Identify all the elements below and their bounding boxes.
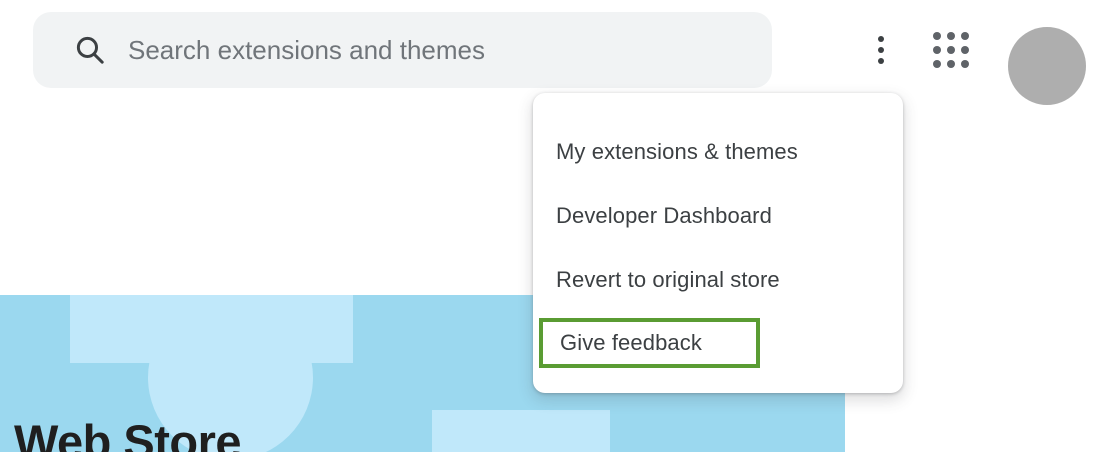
hero-title: Web Store xyxy=(14,418,241,452)
apps-grid-icon xyxy=(933,32,969,68)
menu-item-label: Revert to original store xyxy=(556,267,780,293)
avatar[interactable] xyxy=(1008,27,1086,105)
topbar-actions xyxy=(820,12,1120,96)
menu-item-label: Developer Dashboard xyxy=(556,203,772,229)
search-icon xyxy=(73,33,107,67)
search-bar[interactable] xyxy=(33,12,772,88)
three-dots-vertical-icon xyxy=(878,36,884,64)
web-store-page: Web Store My extensions & the xyxy=(0,0,1120,452)
apps-grid-button[interactable] xyxy=(925,24,977,76)
menu-item-give-feedback[interactable]: Give feedback xyxy=(539,318,760,368)
menu-item-label: Give feedback xyxy=(560,330,702,356)
menu-item-label: My extensions & themes xyxy=(556,139,798,165)
menu-item-my-extensions-and-themes[interactable]: My extensions & themes xyxy=(539,129,815,175)
menu-item-developer-dashboard[interactable]: Developer Dashboard xyxy=(539,193,789,239)
hero-decorative-rect-bottom xyxy=(432,410,610,452)
menu-item-revert-to-original-store[interactable]: Revert to original store xyxy=(539,257,797,303)
search-input[interactable] xyxy=(128,26,748,74)
overflow-menu-button[interactable] xyxy=(855,24,907,76)
